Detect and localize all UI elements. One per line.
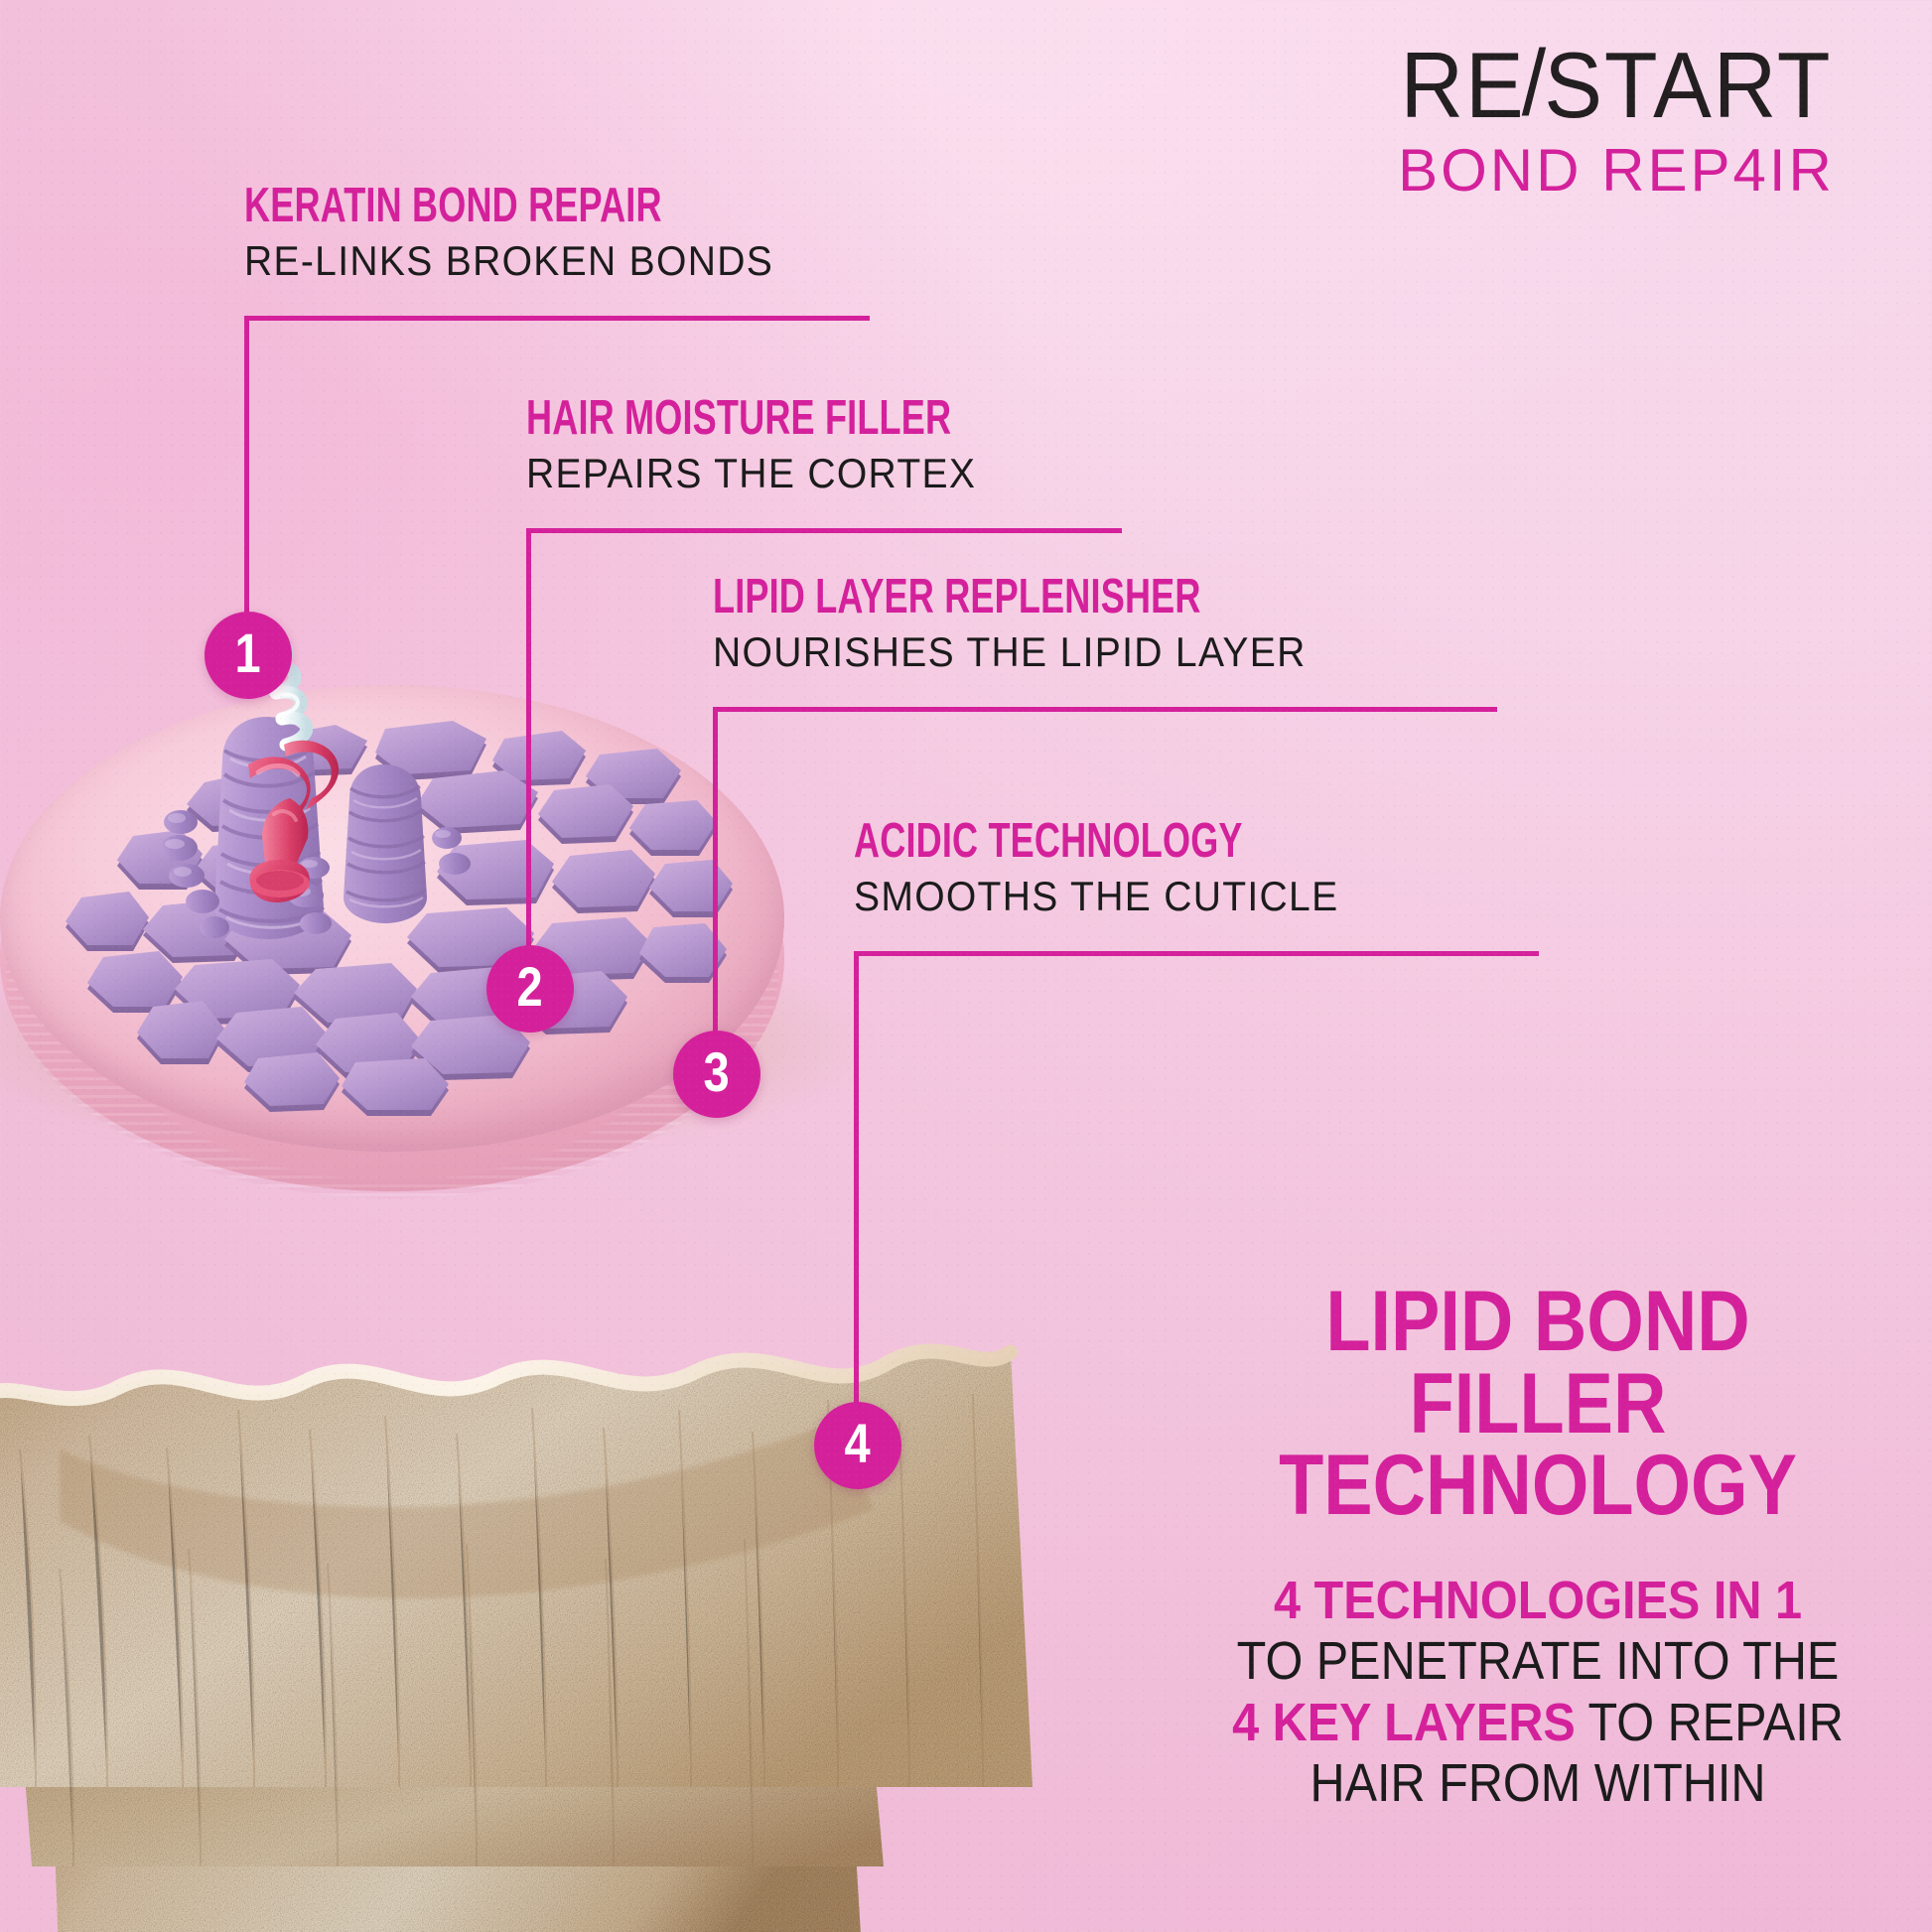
- callout-3-text: LIPID LAYER REPLENISHER NOURISHES THE LI…: [713, 578, 1351, 674]
- callout-1-marker[interactable]: 1: [205, 612, 292, 699]
- promo-body-line-3-rest: TO REPAIR: [1576, 1693, 1844, 1752]
- callout-3-subtitle: NOURISHES THE LIPID LAYER: [713, 629, 1307, 674]
- callout-4-marker[interactable]: 4: [814, 1402, 901, 1489]
- promo-block: LIPID BOND FILLER TECHNOLOGY 4 TECHNOLOG…: [1195, 1281, 1880, 1815]
- callout-2-text: HAIR MOISTURE FILLER REPAIRS THE CORTEX: [526, 399, 1044, 495]
- callout-3-marker[interactable]: 3: [673, 1031, 760, 1118]
- logo-ir: IR: [1769, 137, 1835, 204]
- callout-4-text: ACIDIC TECHNOLOGY SMOOTHS THE CUTICLE: [854, 822, 1375, 918]
- callout-1-text: KERATIN BOND REPAIR RE-LINKS BROKEN BOND…: [244, 187, 813, 283]
- callout-3-title: LIPID LAYER REPLENISHER: [713, 573, 1236, 621]
- leader-4-vertical: [854, 951, 859, 1418]
- logo-slash-icon: /: [1522, 37, 1548, 129]
- promo-body-line-1: 4 TECHNOLOGIES IN 1: [1230, 1571, 1847, 1632]
- leader-3-vertical: [713, 707, 718, 1046]
- callout-2-marker[interactable]: 2: [486, 945, 574, 1033]
- callout-4-subtitle: SMOOTHS THE CUTICLE: [854, 874, 1338, 918]
- leader-1-horizontal: [244, 316, 870, 321]
- leader-2-horizontal: [526, 528, 1122, 533]
- callout-4-number: 4: [845, 1416, 871, 1471]
- promo-heading-line-2: TECHNOLOGY: [1243, 1445, 1832, 1527]
- callout-3-number: 3: [704, 1044, 730, 1100]
- callout-1-subtitle: RE-LINKS BROKEN BONDS: [244, 238, 773, 283]
- callout-2-title: HAIR MOISTURE FILLER: [526, 394, 951, 443]
- logo-restart-start: START: [1544, 33, 1832, 137]
- callout-4-title: ACIDIC TECHNOLOGY: [854, 817, 1282, 866]
- promo-heading-line-1: LIPID BOND FILLER: [1243, 1281, 1832, 1445]
- callout-2-number: 2: [517, 959, 543, 1015]
- brand-logo: RE/START BOND REP4IR: [1358, 42, 1874, 201]
- callout-1-title: KERATIN BOND REPAIR: [244, 182, 711, 230]
- promo-body-line-2: TO PENETRATE INTO THE: [1230, 1631, 1847, 1693]
- logo-restart-re: RE: [1400, 33, 1525, 137]
- promo-body-line-3-highlight: 4 KEY LAYERS: [1232, 1693, 1576, 1752]
- logo-bond-repair: BOND REP4IR: [1358, 141, 1874, 201]
- leader-4-horizontal: [854, 951, 1539, 956]
- leader-3-horizontal: [713, 707, 1497, 712]
- logo-bond-rep: BOND REP: [1398, 137, 1732, 204]
- logo-restart: RE/START: [1358, 39, 1874, 131]
- promo-body-line-4: HAIR FROM WITHIN: [1230, 1753, 1847, 1815]
- leader-1-vertical: [244, 316, 249, 614]
- leader-2-vertical: [526, 528, 531, 963]
- promo-heading: LIPID BOND FILLER TECHNOLOGY: [1195, 1281, 1880, 1527]
- callout-2-subtitle: REPAIRS THE CORTEX: [526, 451, 1009, 495]
- logo-four: 4: [1733, 141, 1769, 201]
- promo-body-line-3: 4 KEY LAYERS TO REPAIR: [1230, 1693, 1847, 1754]
- promo-body: 4 TECHNOLOGIES IN 1 TO PENETRATE INTO TH…: [1195, 1571, 1880, 1815]
- callout-1-number: 1: [235, 625, 261, 681]
